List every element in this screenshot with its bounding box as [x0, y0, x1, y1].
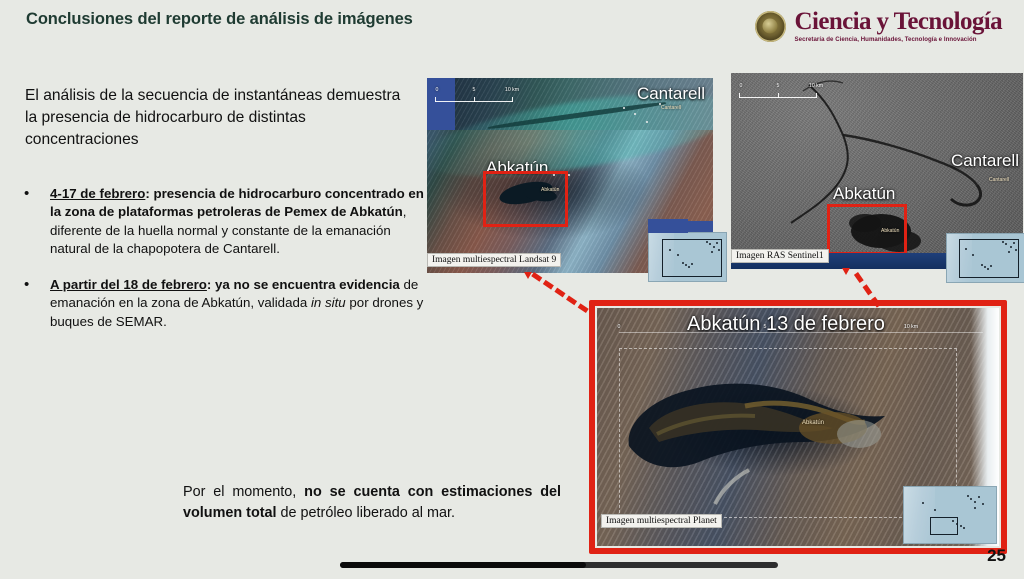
sar-connector-stub	[842, 268, 850, 275]
inset-extent-frame	[662, 239, 722, 277]
connector-landsat-to-planet	[531, 272, 589, 313]
platform-marker	[623, 107, 625, 109]
landsat-corner-patch	[427, 78, 455, 130]
landsat-scale-bar: 0 5 10 km	[435, 89, 513, 102]
page-title: Conclusiones del reporte de análisis de …	[26, 10, 413, 29]
sar-zoom-highlight-box	[827, 204, 907, 255]
scale-tick-10	[816, 93, 817, 98]
scale-tick-0	[739, 93, 740, 98]
planet-inset-locator-map	[903, 486, 997, 544]
closing-part-a: Por el momento,	[183, 484, 304, 500]
landsat-inset-locator-map	[648, 232, 727, 282]
lead-paragraph: El análisis de la secuencia de instantán…	[25, 85, 415, 151]
scale-label-mid: 5	[473, 87, 476, 93]
list-item: 4-17 de febrero: presencia de hidrocarbu…	[18, 185, 430, 258]
scale-label-start: 0	[740, 83, 743, 89]
brand-subtitle: Secretaría de Ciencia, Humanidades, Tecn…	[795, 37, 1002, 43]
landsat-inset-corner-patch	[648, 219, 688, 233]
landsat-label-cantarell: Cantarell	[637, 84, 705, 104]
scale-tick-5	[474, 97, 475, 102]
scale-label-end: 10 km	[809, 83, 823, 89]
bullet-2-bold: : ya no se encuentra evidencia	[207, 277, 400, 292]
sar-label-cantarell: Cantarell	[951, 151, 1019, 171]
list-item: A partir del 18 de febrero: ya no se enc…	[18, 276, 430, 331]
landsat-zoom-highlight-box	[483, 171, 568, 227]
planet-caption: Imagen multiespectral Planet	[601, 514, 722, 528]
video-progress-bar[interactable]	[340, 562, 1024, 568]
scale-label-start: 0	[618, 324, 621, 330]
presentation-slide: Conclusiones del reporte de análisis de …	[0, 0, 1024, 579]
landsat-label-cantarell-small: Cantarell	[661, 105, 681, 111]
mexican-government-seal-icon	[755, 11, 786, 42]
sar-caption: Imagen RAS Sentinel1	[731, 249, 829, 263]
scale-tick-0	[435, 97, 436, 102]
sar-scale-bar: 0 5 10 km	[739, 85, 817, 98]
sar-label-cantarell-small: Cantarell	[989, 177, 1009, 183]
scale-tick-10	[512, 97, 513, 102]
bullet-1-date: 4-17 de febrero	[50, 186, 145, 201]
sar-label-abkatun: Abkatún	[833, 184, 895, 204]
scale-label-end: 10 km	[904, 324, 918, 330]
landsat-caption: Imagen multiespectral Landsat 9	[427, 253, 561, 267]
scale-label-mid: 5	[777, 83, 780, 89]
scale-label-start: 0	[436, 87, 439, 93]
planet-label-abkatun-small: Abkatún	[802, 420, 824, 426]
brand-text-block: Ciencia y Tecnología Secretaría de Cienc…	[795, 9, 1002, 43]
connector-sar-to-planet	[854, 272, 881, 308]
brand-logo: Ciencia y Tecnología Secretaría de Cienc…	[755, 9, 1002, 43]
figure-planet-multispectral: 0 5 10 km Abkatún 13 de febrero Abkatún …	[597, 308, 999, 546]
scale-label-end: 10 km	[505, 87, 519, 93]
scale-tick-5	[778, 93, 779, 98]
platform-marker	[634, 113, 636, 115]
planet-title-label: Abkatún 13 de febrero	[687, 313, 885, 336]
progress-played	[340, 562, 586, 568]
platform-marker	[659, 103, 661, 105]
platform-marker	[568, 174, 570, 176]
brand-title: Ciencia y Tecnología	[795, 9, 1002, 34]
bullet-2-date: A partir del 18 de febrero	[50, 277, 207, 292]
bullet-2-italic: in situ	[311, 295, 346, 310]
closing-part-b: de petróleo liberado al mar.	[277, 505, 455, 521]
bullet-list: 4-17 de febrero: presencia de hidrocarbu…	[18, 185, 430, 349]
closing-paragraph: Por el momento, no se cuenta con estimac…	[183, 482, 561, 523]
sar-inset-locator-map	[946, 233, 1024, 283]
inset-extent-frame	[959, 239, 1019, 278]
platform-marker	[646, 121, 648, 123]
